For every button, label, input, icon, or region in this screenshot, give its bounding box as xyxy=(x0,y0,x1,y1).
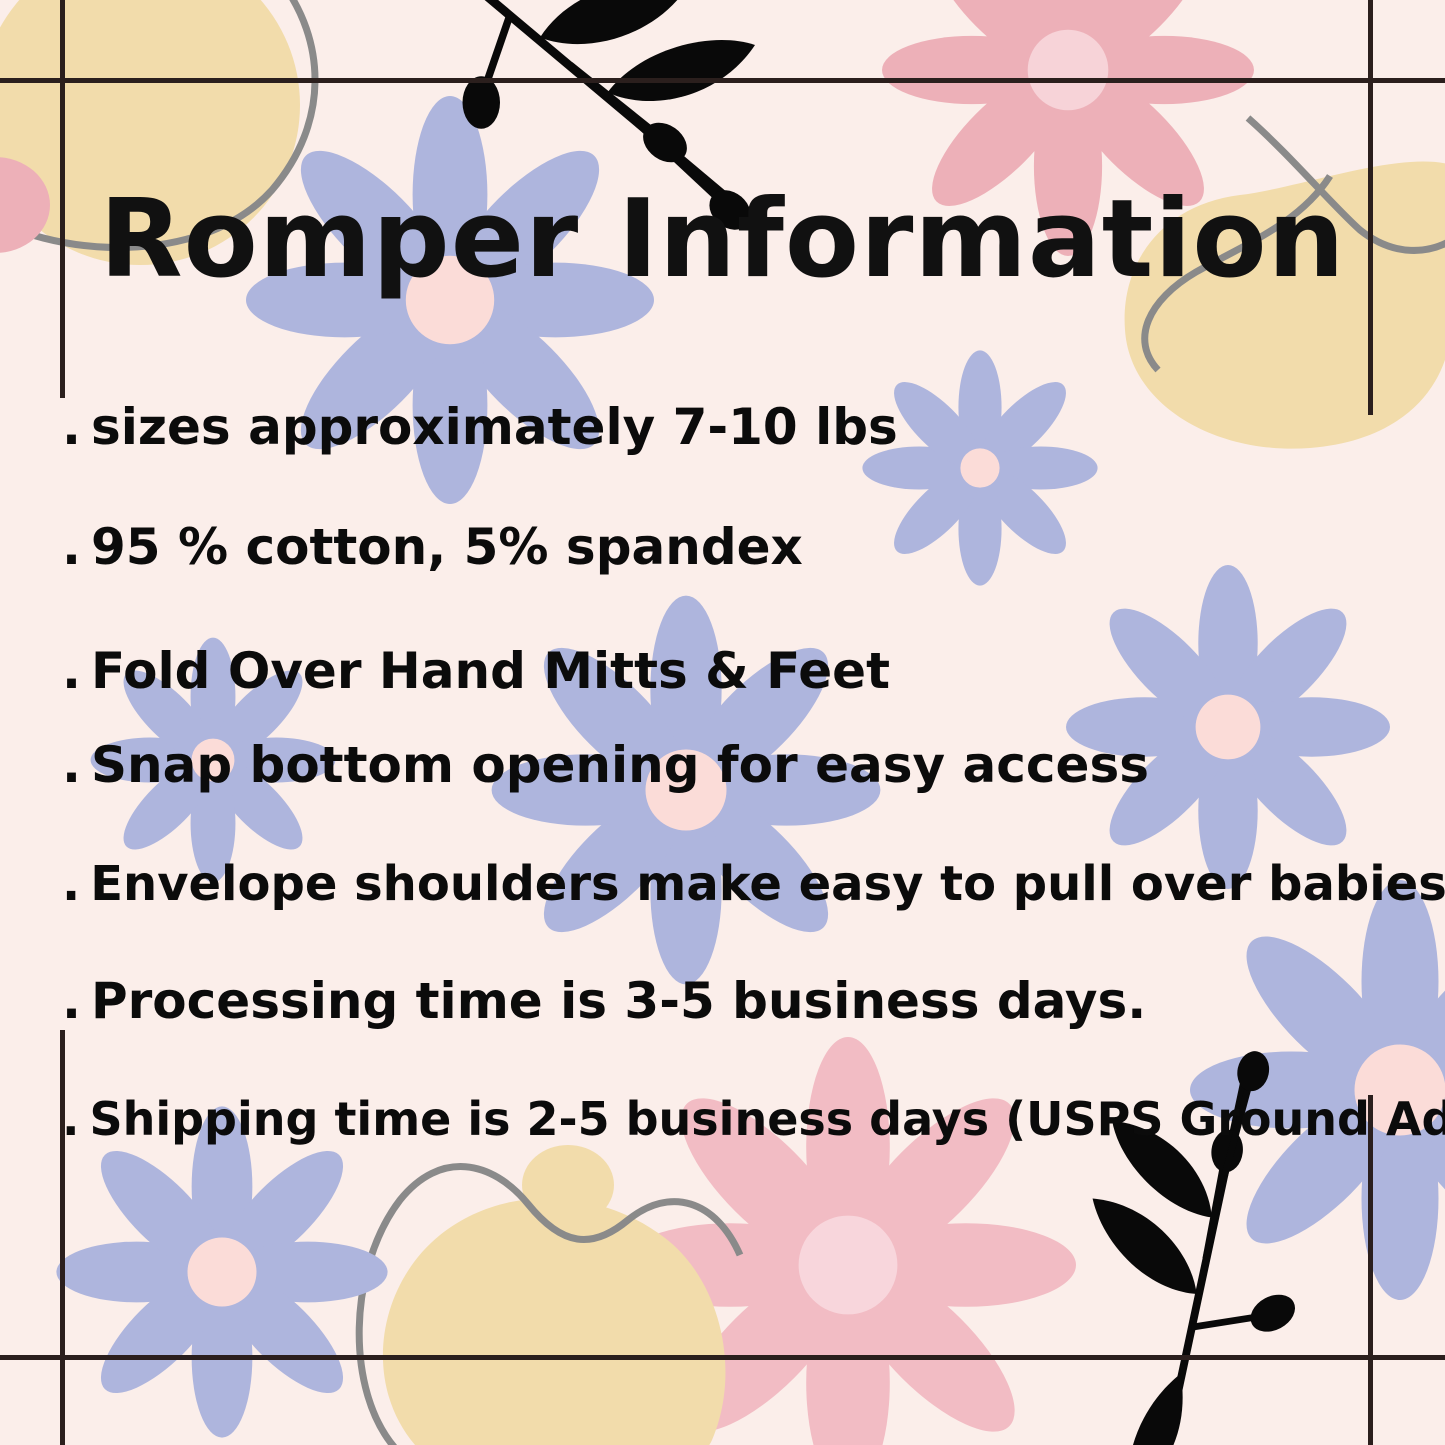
bullet-marker: . xyxy=(62,398,81,456)
list-item-text: 95 % cotton, 5% spandex xyxy=(91,518,803,576)
list-item-text: Envelope shoulders make easy to pull ove… xyxy=(90,856,1445,912)
bullet-marker: . xyxy=(62,642,81,700)
bullet-marker: . xyxy=(62,1092,79,1146)
list-item-text: sizes approximately 7-10 lbs xyxy=(91,398,898,456)
list-item: .Shipping time is 2-5 business days (USP… xyxy=(62,1092,1422,1146)
bullet-marker: . xyxy=(62,856,80,912)
page-title: Romper Information xyxy=(0,186,1445,294)
bullet-marker: . xyxy=(62,518,81,576)
list-item-text: Fold Over Hand Mitts & Feet xyxy=(91,642,890,700)
info-bullet-list: .sizes approximately 7-10 lbs .95 % cott… xyxy=(62,398,1422,1146)
list-item: .Envelope shoulders make easy to pull ov… xyxy=(62,856,1422,912)
bullet-marker: . xyxy=(62,972,81,1030)
list-item: .sizes approximately 7-10 lbs xyxy=(62,398,1422,456)
list-item: .Processing time is 3-5 business days. xyxy=(62,972,1422,1030)
list-item-text: Shipping time is 2-5 business days (USPS… xyxy=(89,1092,1445,1146)
poster-canvas: Romper Information .sizes approximately … xyxy=(0,0,1445,1445)
list-item-text: Processing time is 3-5 business days. xyxy=(91,972,1146,1030)
list-item: .Fold Over Hand Mitts & Feet xyxy=(62,642,1422,700)
list-item: .Snap bottom opening for easy access xyxy=(62,736,1422,794)
list-item-text: Snap bottom opening for easy access xyxy=(91,736,1149,794)
list-item: .95 % cotton, 5% spandex xyxy=(62,518,1422,576)
bullet-marker: . xyxy=(62,736,81,794)
